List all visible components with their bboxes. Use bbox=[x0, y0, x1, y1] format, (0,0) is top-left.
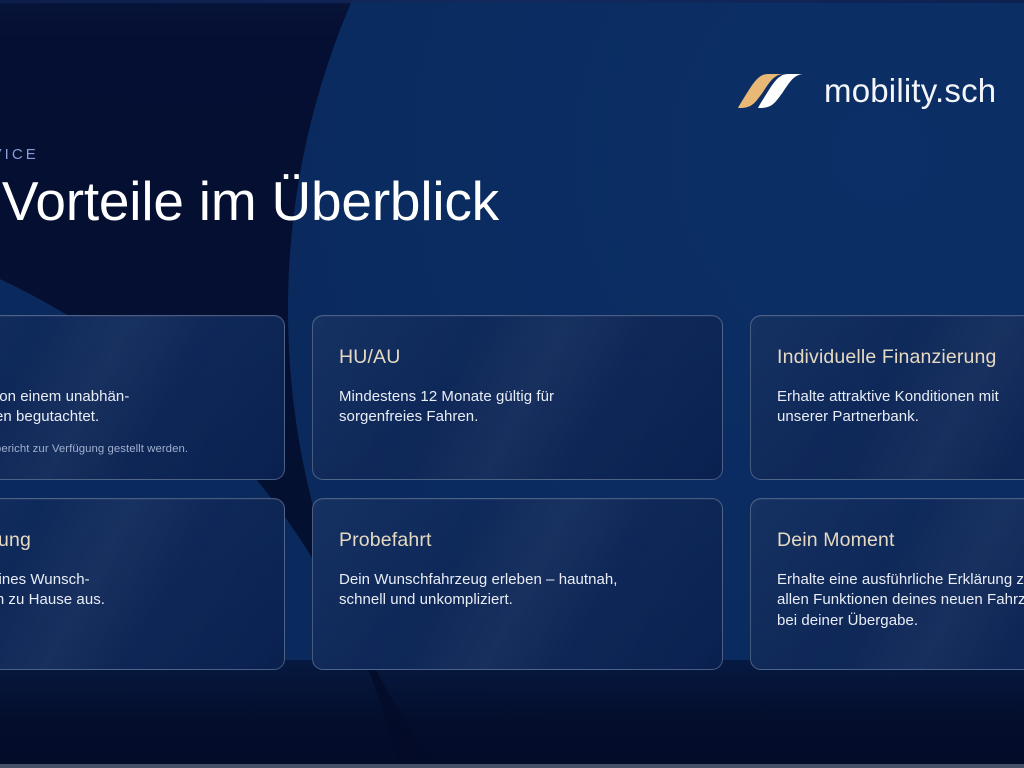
bottom-edge-line bbox=[0, 764, 1024, 768]
card-digitale-besichtigung[interactable]: e Besichtigung esichtigung deines Wunsch… bbox=[0, 498, 285, 670]
card-body: esichtigung deines Wunsch- gs bequem von… bbox=[0, 570, 258, 611]
card-body: Dein Wunschfahrzeug erleben – hautnah, s… bbox=[339, 570, 696, 611]
card-individuelle-finanzierung[interactable]: Individuelle Finanzierung Erhalte attrak… bbox=[750, 315, 1024, 480]
card-body: Mindestens 12 Monate gültig für sorgenfr… bbox=[339, 387, 696, 428]
card-note: kann ein Zustandsbericht zur Verfügung g… bbox=[0, 442, 258, 457]
card-title: HU/AU bbox=[339, 346, 696, 369]
card-body: Erhalte attraktive Konditionen mit unser… bbox=[777, 387, 1024, 428]
brand-wordmark: mobility.sch bbox=[824, 72, 996, 110]
card-title: e Besichtigung bbox=[0, 529, 258, 552]
heading-block: UM-SERVICE ine Vorteile im Überblick bbox=[0, 146, 499, 233]
slide-canvas: mobility.sch UM-SERVICE ine Vorteile im … bbox=[0, 0, 1024, 768]
card-title: Individuelle Finanzierung bbox=[777, 346, 1024, 369]
brand-logo[interactable]: mobility.sch bbox=[736, 70, 996, 112]
card-title: parenz bbox=[0, 346, 258, 369]
top-edge-line bbox=[0, 0, 1024, 3]
card-probefahrt[interactable]: Probefahrt Dein Wunschfahrzeug erleben –… bbox=[312, 498, 723, 670]
background-bottom-shade bbox=[0, 660, 1024, 768]
card-title: Dein Moment bbox=[777, 529, 1024, 552]
benefits-grid: parenz ahrzeug wird von einem unabhän- a… bbox=[0, 315, 1024, 670]
mobility-ribbon-logo-icon bbox=[736, 70, 802, 112]
card-hu-au[interactable]: HU/AU Mindestens 12 Monate gültig für so… bbox=[312, 315, 723, 480]
card-dein-moment[interactable]: Dein Moment Erhalte eine ausführliche Er… bbox=[750, 498, 1024, 670]
page-title: ine Vorteile im Überblick bbox=[0, 171, 499, 233]
card-body: ahrzeug wird von einem unabhän- achverst… bbox=[0, 387, 258, 428]
card-title: Probefahrt bbox=[339, 529, 696, 552]
eyebrow-label: UM-SERVICE bbox=[0, 146, 499, 163]
card-transparenz[interactable]: parenz ahrzeug wird von einem unabhän- a… bbox=[0, 315, 285, 480]
card-body: Erhalte eine ausführliche Erklärung zu a… bbox=[777, 570, 1024, 631]
